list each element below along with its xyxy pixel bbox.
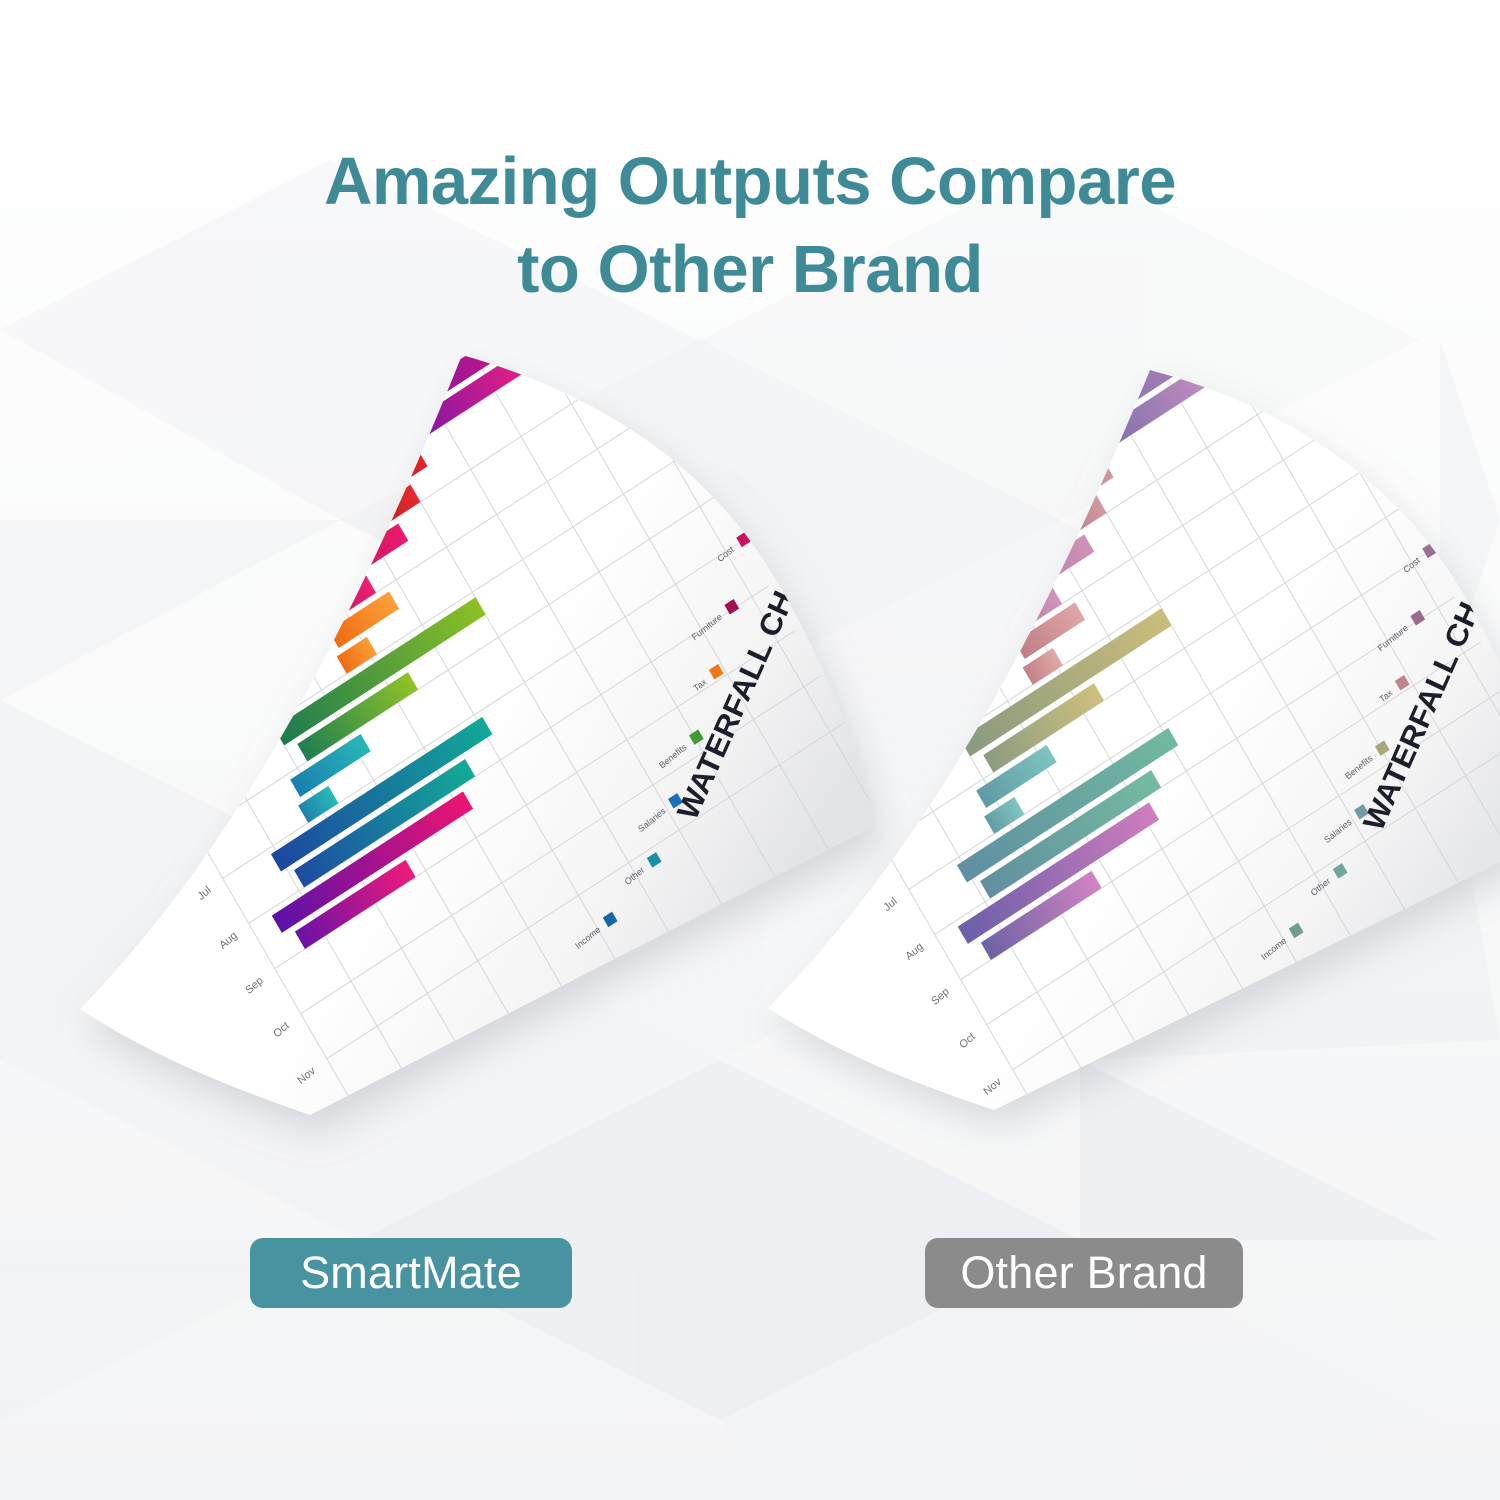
svg-text:$40,000: $40,000 (585, 1020, 622, 1035)
svg-text:$30,000: $30,000 (1221, 1063, 1258, 1078)
svg-text:$50,000: $50,000 (1322, 998, 1359, 1013)
smartmate-label-pill[interactable]: SmartMate (250, 1238, 572, 1308)
otherbrand-label-text: Other Brand (960, 1247, 1207, 1299)
svg-text:$20,000: $20,000 (485, 1085, 522, 1100)
svg-text:Feb: Feb (748, 670, 770, 692)
svg-text:$70,000: $70,000 (1422, 933, 1459, 948)
legend-item-payroll: Payroll (1402, 476, 1449, 515)
headline-line-2: to Other Brand (0, 226, 1500, 314)
svg-text:$50,000: $50,000 (636, 987, 673, 1002)
svg-text:Mar: Mar (774, 715, 796, 737)
svg-text:Mar: Mar (88, 704, 110, 726)
otherbrand-label-pill[interactable]: Other Brand (925, 1238, 1243, 1308)
svg-text:$80,000: $80,000 (1473, 900, 1500, 915)
svg-text:Jan: Jan (37, 614, 58, 635)
page-title: Amazing Outputs Compare to Other Brand (0, 138, 1500, 315)
svg-text:$20,000: $20,000 (1171, 1096, 1208, 1111)
svg-text:May: May (824, 805, 848, 828)
paper-sheet (768, 370, 1500, 1110)
svg-text:Payroll: Payroll (1405, 489, 1432, 514)
smartmate-label-text: SmartMate (300, 1247, 522, 1299)
otherbrand-chart-paper: Jan Feb Mar Apr May Jun Jul Aug Sep Oct … (690, 370, 1500, 1110)
svg-text:Apr: Apr (115, 749, 136, 770)
svg-text:$40,000: $40,000 (1271, 1031, 1308, 1046)
svg-text:$30,000: $30,000 (535, 1052, 572, 1067)
svg-text:Apr: Apr (801, 760, 822, 781)
svg-text:May: May (138, 794, 162, 817)
svg-text:$60,000: $60,000 (1372, 965, 1409, 980)
headline-line-1: Amazing Outputs Compare (324, 144, 1176, 219)
svg-text:Feb: Feb (62, 659, 84, 681)
svg-text:Jan: Jan (723, 625, 744, 646)
svg-text:Jun: Jun (167, 839, 188, 860)
svg-text:Jun: Jun (853, 850, 874, 871)
